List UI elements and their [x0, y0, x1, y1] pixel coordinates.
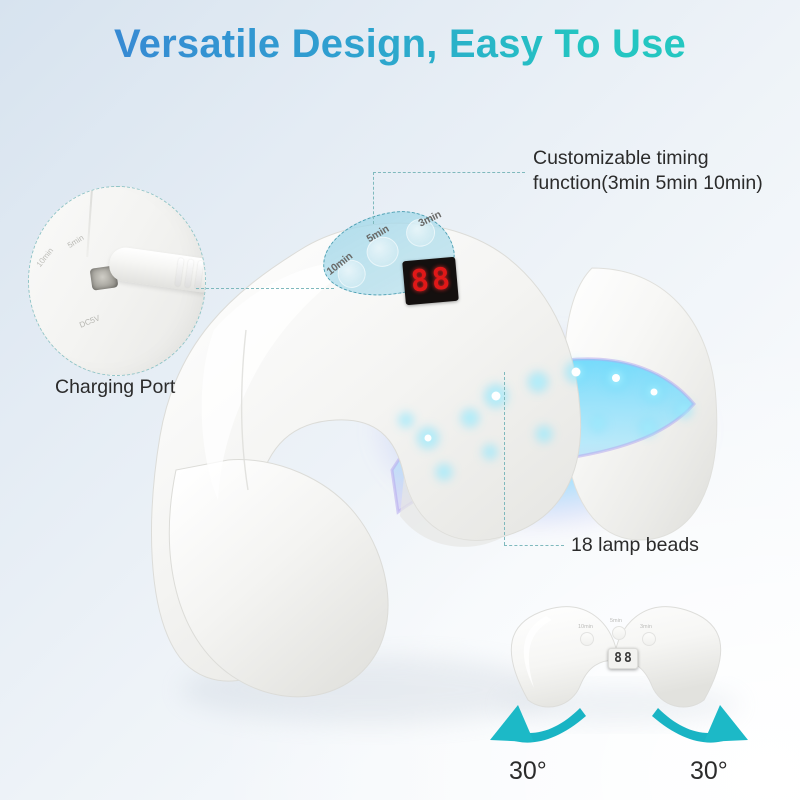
leader-charging-horizontal: [196, 288, 334, 289]
mini-button-3min[interactable]: [642, 632, 656, 646]
leader-timing-horizontal: [373, 172, 525, 173]
mini-device-controls: 10min 5min 3min 8 8: [500, 600, 770, 750]
mini-led-display: 8 8: [608, 648, 638, 669]
charging-port-magnifier: 5min 10min DC5V: [28, 186, 206, 376]
mini-label-10min: 10min: [578, 624, 593, 630]
rotation-label-left: 30°: [509, 757, 547, 786]
mini-button-10min[interactable]: [580, 632, 594, 646]
plug-ring: [195, 261, 204, 289]
infographic-canvas: Versatile Design, Easy To Use: [0, 0, 800, 800]
mini-led-digit-left: 8: [614, 652, 622, 665]
callout-timing-text: Customizable timing function(3min 5min 1…: [533, 146, 763, 196]
rotation-label-right: 30°: [690, 757, 728, 786]
mini-label-5min: 5min: [610, 618, 622, 624]
callout-charging-port-text: Charging Port: [55, 375, 175, 400]
led-digit-left: 8: [410, 266, 431, 297]
mini-label-3min: 3min: [640, 624, 652, 630]
callout-lamp-beads-text: 18 lamp beads: [571, 533, 699, 558]
plug-ring: [175, 258, 184, 286]
led-digit-right: 8: [431, 264, 452, 295]
mini-button-5min[interactable]: [612, 626, 626, 640]
mini-led-digit-right: 8: [624, 652, 632, 665]
leader-beads-horizontal: [504, 545, 564, 546]
plug-ring: [185, 259, 194, 287]
leader-timing-vertical: [373, 172, 374, 224]
led-display: 8 8: [402, 257, 459, 305]
leader-beads-vertical: [504, 372, 505, 545]
